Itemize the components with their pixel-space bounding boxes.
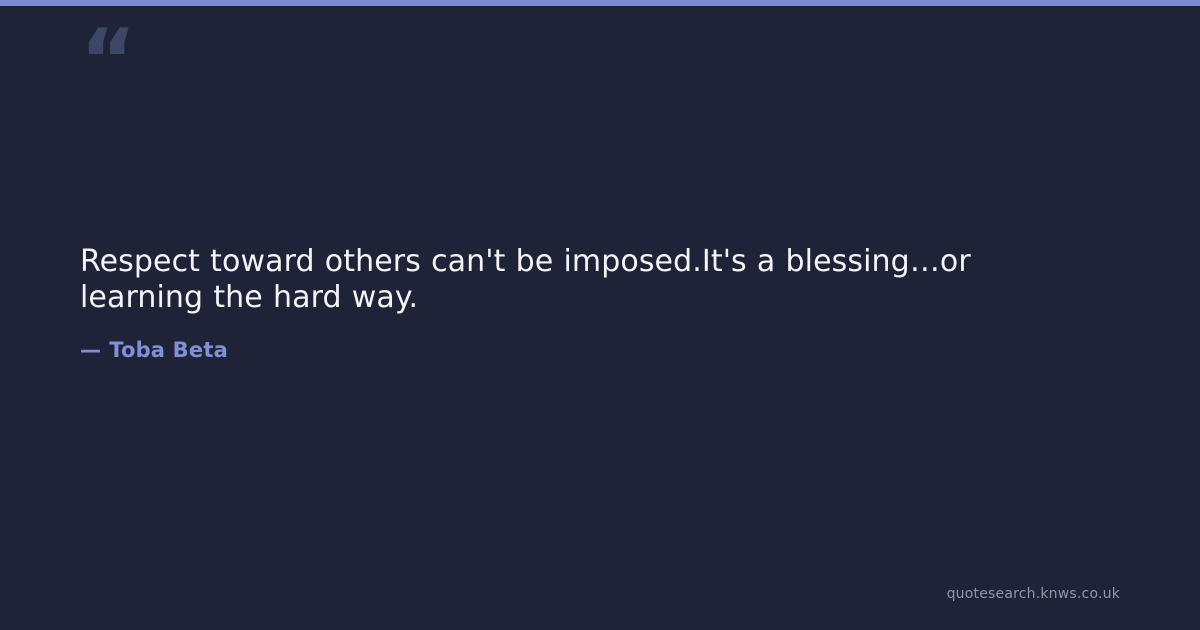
attribution-author: Toba Beta (109, 338, 228, 362)
quote-attribution: —Toba Beta (80, 338, 228, 362)
quote-mark-icon: “ (80, 18, 140, 88)
quote-block: Respect toward others can't be imposed.I… (80, 244, 1090, 316)
site-watermark: quotesearch.knws.co.uk (947, 586, 1120, 602)
quote-text: Respect toward others can't be imposed.I… (80, 244, 1090, 316)
top-accent-bar (0, 0, 1200, 6)
quote-card: “ Respect toward others can't be imposed… (0, 0, 1200, 630)
attribution-dash: — (80, 338, 101, 362)
